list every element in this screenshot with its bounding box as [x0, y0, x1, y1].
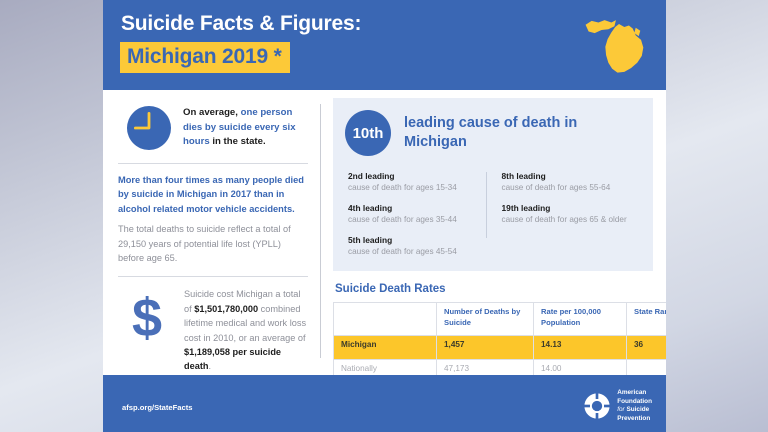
list-item: 19th leading cause of death for ages 65 … — [502, 203, 640, 226]
clock-icon — [125, 104, 173, 152]
table-header-rank: State Rank — [627, 303, 667, 336]
header-banner: Suicide Facts & Figures: Michigan 2019 * — [103, 0, 666, 90]
cell-michigan-deaths: 1,457 — [437, 336, 534, 360]
table-header-rate: Rate per 100,000 Population — [534, 303, 627, 336]
cell-michigan-rate: 14.13 — [534, 336, 627, 360]
ypll-paragraph: The total deaths to suicide reflect a to… — [118, 222, 308, 265]
cost-total-amount: $1,501,780,000 — [194, 304, 258, 314]
rank-label: 4th leading — [348, 203, 486, 214]
table-header-blank — [334, 303, 437, 336]
leading-cause-panel: 10th leading cause of death in Michigan … — [333, 98, 653, 271]
dollar-sign-icon: $ — [118, 285, 176, 345]
list-item: 2nd leading cause of death for ages 15-3… — [348, 171, 486, 194]
list-item: 4th leading cause of death for ages 35-4… — [348, 203, 486, 226]
logo-line-3-italic: for — [617, 406, 624, 413]
afsp-logo: American Foundation for Suicide Preventi… — [583, 389, 652, 423]
rank-description: cause of death for ages 65 & older — [502, 214, 640, 225]
list-item: 8th leading cause of death for ages 55-6… — [502, 171, 640, 194]
clock-statement-text: On average, one person dies by suicide e… — [183, 104, 313, 150]
page-subtitle: Michigan 2019 * — [127, 45, 282, 68]
age-rankings-column-left: 2nd leading cause of death for ages 15-3… — [348, 171, 486, 257]
rank-description: cause of death for ages 15-34 — [348, 182, 486, 193]
table-row: Michigan 1,457 14.13 36 — [334, 336, 667, 360]
logo-line-1: American — [617, 389, 652, 398]
rank-label: 19th leading — [502, 203, 640, 214]
divider-1 — [118, 163, 308, 164]
logo-line-4: Prevention — [617, 415, 652, 424]
logo-line-2: Foundation — [617, 398, 652, 407]
age-rankings-column-right: 8th leading cause of death for ages 55-6… — [486, 171, 640, 257]
footer-banner: afsp.org/StateFacts American Foundation … — [103, 375, 666, 432]
cost-part3: . — [209, 361, 212, 371]
afsp-life-preserver-logo — [583, 392, 611, 420]
page-title: Suicide Facts & Figures: — [121, 12, 361, 36]
rank-description: cause of death for ages 55-64 — [502, 182, 640, 193]
infographic-page: Suicide Facts & Figures: Michigan 2019 *… — [103, 0, 666, 432]
rank-label: 8th leading — [502, 171, 640, 182]
table-header-deaths: Number of Deaths by Suicide — [437, 303, 534, 336]
cost-average-amount: $1,189,058 — [184, 347, 230, 357]
rates-section-title: Suicide Death Rates — [335, 283, 653, 295]
clock-text-part1: On average, — [183, 107, 241, 118]
subtitle-highlight: Michigan 2019 * — [120, 42, 290, 73]
logo-line-3-main: Suicide — [626, 406, 649, 413]
list-item: 5th leading cause of death for ages 45-5… — [348, 235, 486, 258]
clock-text-part2: in the state. — [210, 136, 266, 147]
left-column: On average, one person dies by suicide e… — [113, 98, 313, 400]
column-divider — [320, 104, 321, 358]
table-header-row: Number of Deaths by Suicide Rate per 100… — [334, 303, 667, 336]
logo-line-3: for Suicide — [617, 406, 652, 415]
right-column: 10th leading cause of death in Michigan … — [333, 98, 653, 384]
rank-label: 2nd leading — [348, 171, 486, 182]
leading-cause-header: 10th leading cause of death in Michigan — [345, 110, 639, 156]
content-area: On average, one person dies by suicide e… — [103, 90, 666, 372]
divider-2 — [118, 276, 308, 277]
cell-michigan-rank: 36 — [627, 336, 667, 360]
rank-label: 5th leading — [348, 235, 486, 246]
rank-description: cause of death for ages 45-54 — [348, 246, 486, 257]
leading-cause-title: leading cause of death in Michigan — [404, 114, 639, 151]
cost-statement-block: $ Suicide cost Michigan a total of $1,50… — [118, 285, 308, 374]
suicide-death-rates-table: Number of Deaths by Suicide Rate per 100… — [333, 302, 666, 384]
rank-badge: 10th — [345, 110, 391, 156]
lead-paragraph: More than four times as many people died… — [118, 173, 308, 216]
clock-statement-block: On average, one person dies by suicide e… — [113, 98, 313, 152]
footer-website-link[interactable]: afsp.org/StateFacts — [122, 403, 192, 412]
michigan-map-icon — [580, 8, 658, 84]
cost-statement-text: Suicide cost Michigan a total of $1,501,… — [184, 285, 308, 374]
age-rankings-grid: 2nd leading cause of death for ages 15-3… — [345, 171, 639, 257]
rank-description: cause of death for ages 35-44 — [348, 214, 486, 225]
afsp-logo-text: American Foundation for Suicide Preventi… — [617, 389, 652, 423]
row-label-michigan: Michigan — [334, 336, 437, 360]
